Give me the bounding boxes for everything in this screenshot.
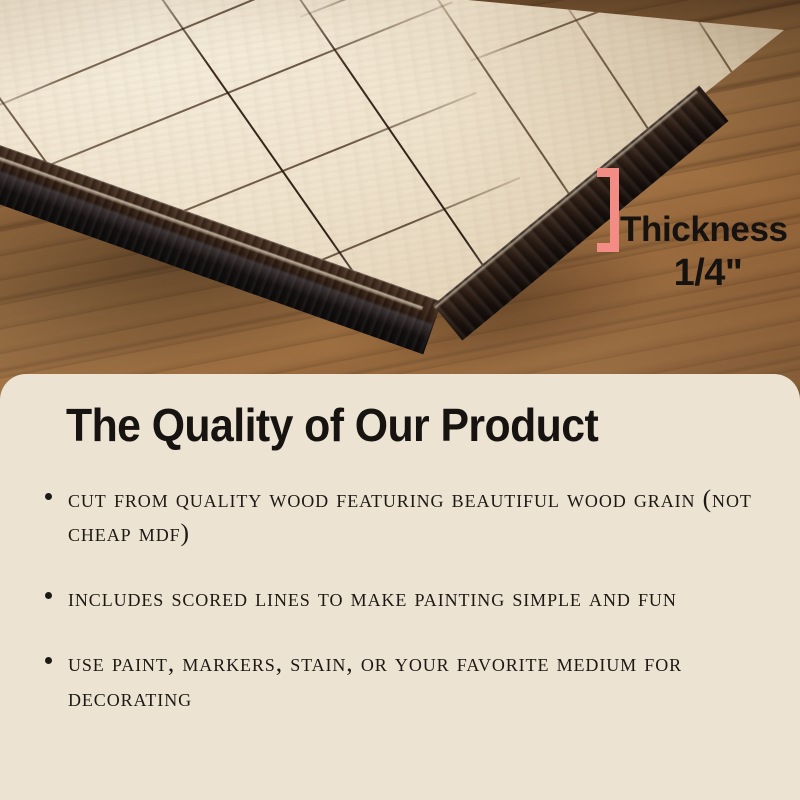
feature-list: Cut from quality wood featuring beautifu… bbox=[40, 482, 752, 715]
list-item: Cut from quality wood featuring beautifu… bbox=[40, 482, 752, 550]
thickness-value: 1/4" bbox=[618, 254, 798, 292]
page-title: The Quality of Our Product bbox=[66, 402, 598, 448]
bullet-dot-icon bbox=[45, 493, 52, 500]
list-item-text: Includes scored lines to make painting s… bbox=[68, 581, 752, 615]
thickness-label: Thickness bbox=[618, 212, 798, 247]
list-item: Includes scored lines to make painting s… bbox=[40, 581, 752, 615]
list-item: Use paint, markers, stain, or your favor… bbox=[40, 646, 752, 714]
list-item-text: Use paint, markers, stain, or your favor… bbox=[68, 646, 752, 714]
product-feature-image: Thickness 1/4" The Quality of Our Produc… bbox=[0, 0, 800, 800]
bullet-dot-icon bbox=[45, 657, 52, 664]
bullet-dot-icon bbox=[45, 592, 52, 599]
bracket-arm-bottom bbox=[597, 243, 619, 252]
thickness-callout: Thickness 1/4" bbox=[618, 212, 798, 292]
quality-info-panel: The Quality of Our Product Cut from qual… bbox=[0, 374, 800, 800]
list-item-text: Cut from quality wood featuring beautifu… bbox=[68, 482, 752, 550]
thickness-bracket-icon bbox=[597, 168, 619, 252]
wood-board bbox=[0, 0, 800, 400]
product-photo: Thickness 1/4" bbox=[0, 0, 800, 400]
